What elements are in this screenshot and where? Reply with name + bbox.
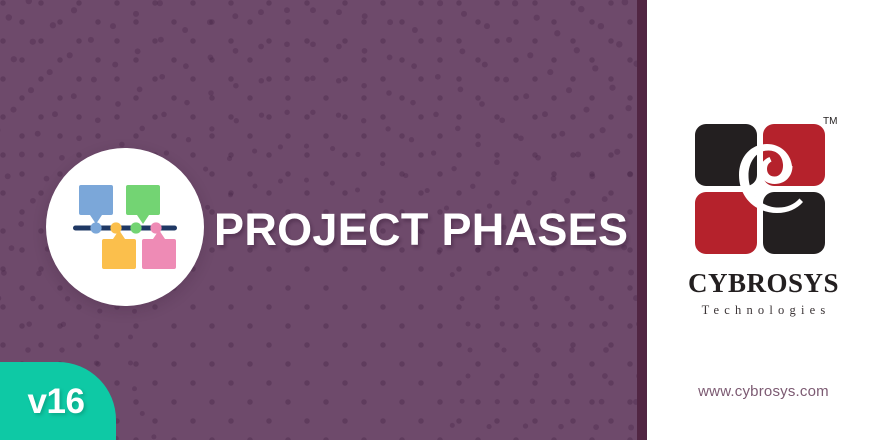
milestone-dot-blue	[90, 222, 101, 233]
page-title: PROJECT PHASES	[214, 196, 624, 262]
icon-circle-badge	[46, 148, 204, 306]
marker-tag-blue	[79, 185, 113, 224]
marker-tag-orange	[102, 230, 136, 269]
version-badge-label: v16	[28, 384, 85, 419]
brand-tagline: Technologies	[697, 304, 831, 317]
website-url[interactable]: www.cybrosys.com	[647, 384, 880, 399]
logo-tile-bottom-right	[763, 192, 825, 254]
cybrosys-logo-icon: TM	[691, 112, 837, 264]
trademark-mark: TM	[823, 116, 837, 127]
brand-lockup: TM CYBROSYS Technologies	[647, 112, 880, 317]
milestone-dot-green	[130, 222, 141, 233]
marker-tag-pink	[142, 230, 176, 269]
left-purple-panel: PROJECT PHASES v16	[0, 0, 637, 440]
project-timeline-icon	[73, 181, 177, 273]
marker-tag-green	[126, 185, 160, 224]
panel-divider-stripe	[637, 0, 647, 440]
banner: PROJECT PHASES v16	[0, 0, 880, 440]
right-white-panel: TM CYBROSYS Technologies www.cybrosys.co…	[647, 0, 880, 440]
brand-name: CYBROSYS	[688, 270, 839, 297]
logo-tile-bottom-left	[695, 192, 757, 254]
